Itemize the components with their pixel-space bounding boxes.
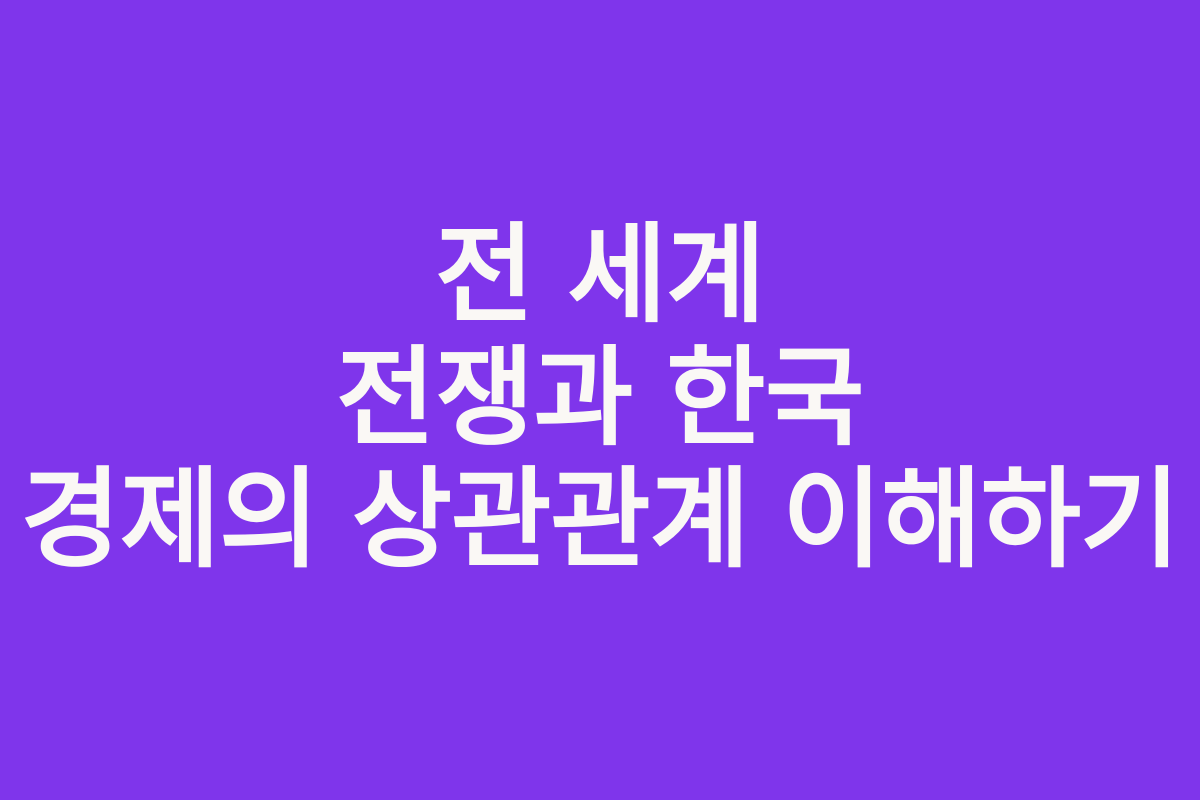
headline-line-3: 경제의 상관관계 이해하기 bbox=[0, 459, 1200, 582]
headline-line-3-text: 경제의 상관관계 이해하기 bbox=[21, 459, 1180, 582]
title-card: 전 세계 전쟁과 한국 경제의 상관관계 이해하기 bbox=[0, 0, 1200, 800]
headline-line-1-text: 전 세계 bbox=[435, 214, 765, 335]
headline-line-2-text: 전쟁과 한국 bbox=[336, 337, 864, 458]
headline-line-2: 전쟁과 한국 bbox=[0, 336, 1200, 459]
headline-line-1: 전 세계 bbox=[0, 213, 1200, 336]
headline-block: 전 세계 전쟁과 한국 경제의 상관관계 이해하기 bbox=[0, 213, 1200, 582]
